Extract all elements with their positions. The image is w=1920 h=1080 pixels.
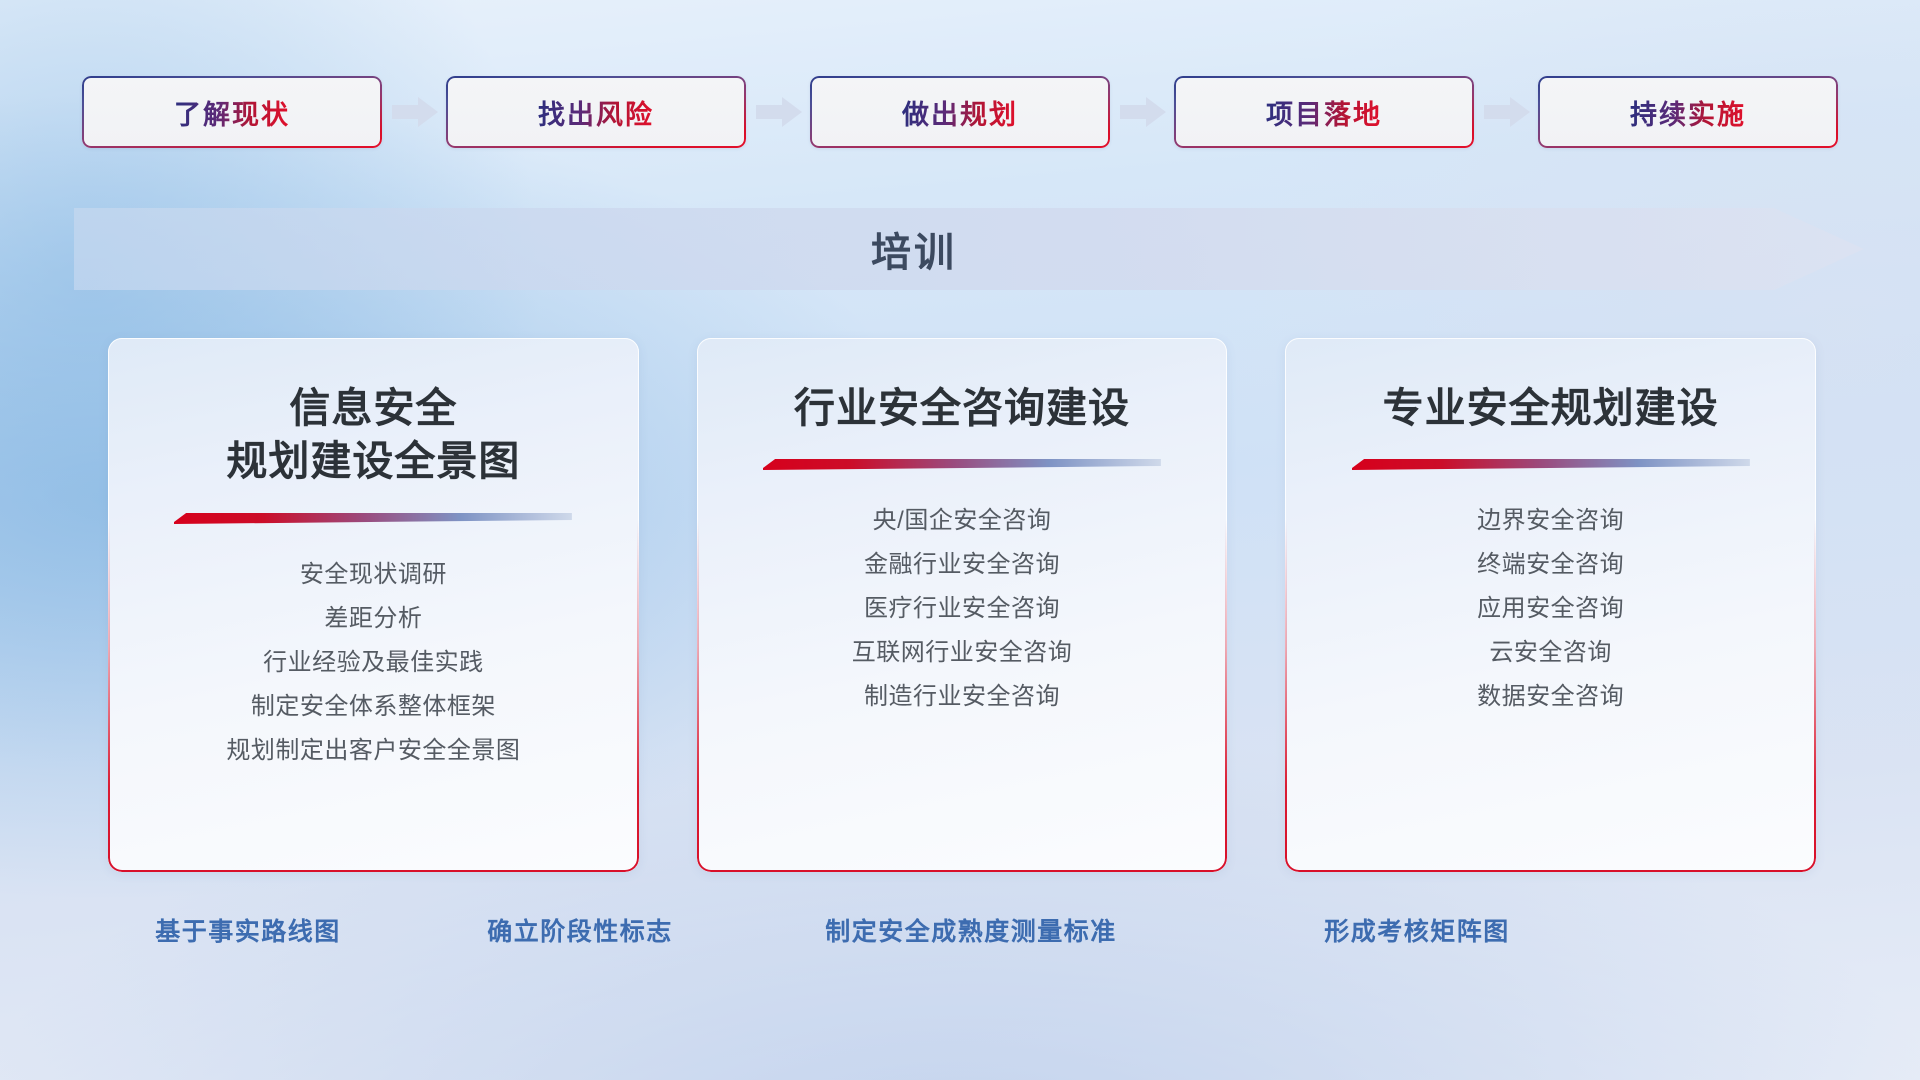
arrow-right-icon-4 bbox=[1474, 95, 1538, 129]
list-item: 安全现状调研 bbox=[142, 553, 605, 597]
step-box-5[interactable]: 持续实施 bbox=[1538, 76, 1838, 148]
card-2-title: 行业安全咨询建设 bbox=[794, 382, 1130, 435]
card-1-title: 信息安全 规划建设全景图 bbox=[226, 382, 520, 489]
card-2[interactable]: 行业安全咨询建设 bbox=[697, 338, 1228, 872]
slide-canvas: 了解现状 找出风险 做出规划 项目落地 bbox=[0, 0, 1920, 1080]
list-item: 云安全咨询 bbox=[1319, 631, 1782, 675]
card-1-list: 安全现状调研 差距分析 行业经验及最佳实践 制定安全体系整体框架 规划制定出客户… bbox=[142, 553, 605, 773]
step-label-4: 项目落地 bbox=[1266, 93, 1382, 132]
banner-title: 培训 bbox=[74, 208, 1864, 290]
gradient-divider-icon-3 bbox=[1352, 457, 1750, 471]
list-item: 央/国企安全咨询 bbox=[731, 499, 1194, 543]
list-item: 应用安全咨询 bbox=[1319, 587, 1782, 631]
step-box-1[interactable]: 了解现状 bbox=[82, 76, 382, 148]
card-3-list: 边界安全咨询 终端安全咨询 应用安全咨询 云安全咨询 数据安全咨询 bbox=[1319, 499, 1782, 719]
gradient-divider-icon-1 bbox=[174, 511, 572, 525]
bottom-label-2: 确立阶段性标志 bbox=[487, 912, 673, 948]
list-item: 终端安全咨询 bbox=[1319, 543, 1782, 587]
card-1[interactable]: 信息安全 规划建设全景图 bbox=[108, 338, 639, 872]
step-box-3[interactable]: 做出规划 bbox=[810, 76, 1110, 148]
card-3[interactable]: 专业安全规划建设 bbox=[1285, 338, 1816, 872]
bottom-label-3: 制定安全成熟度测量标准 bbox=[825, 912, 1117, 948]
card-3-title: 专业安全规划建设 bbox=[1383, 382, 1719, 435]
bottom-label-row: 基于事实路线图 确立阶段性标志 制定安全成熟度测量标准 形成考核矩阵图 bbox=[0, 912, 1920, 956]
training-banner: 培训 bbox=[74, 208, 1864, 290]
list-item: 金融行业安全咨询 bbox=[731, 543, 1194, 587]
list-item: 制定安全体系整体框架 bbox=[142, 685, 605, 729]
list-item: 数据安全咨询 bbox=[1319, 675, 1782, 719]
list-item: 规划制定出客户安全全景图 bbox=[142, 729, 605, 773]
step-flow: 了解现状 找出风险 做出规划 项目落地 bbox=[0, 76, 1920, 148]
step-label-3: 做出规划 bbox=[902, 93, 1018, 132]
step-label-1: 了解现状 bbox=[174, 93, 290, 132]
list-item: 互联网行业安全咨询 bbox=[731, 631, 1194, 675]
step-label-2: 找出风险 bbox=[538, 93, 654, 132]
list-item: 行业经验及最佳实践 bbox=[142, 641, 605, 685]
list-item: 边界安全咨询 bbox=[1319, 499, 1782, 543]
card-2-list: 央/国企安全咨询 金融行业安全咨询 医疗行业安全咨询 互联网行业安全咨询 制造行… bbox=[731, 499, 1194, 719]
arrow-right-icon-3 bbox=[1110, 95, 1174, 129]
bottom-label-1: 基于事实路线图 bbox=[155, 912, 341, 948]
list-item: 差距分析 bbox=[142, 597, 605, 641]
arrow-right-icon-1 bbox=[382, 95, 446, 129]
list-item: 制造行业安全咨询 bbox=[731, 675, 1194, 719]
list-item: 医疗行业安全咨询 bbox=[731, 587, 1194, 631]
step-box-4[interactable]: 项目落地 bbox=[1174, 76, 1474, 148]
bottom-label-4: 形成考核矩阵图 bbox=[1324, 912, 1510, 948]
step-label-5: 持续实施 bbox=[1630, 93, 1746, 132]
card-group: 信息安全 规划建设全景图 bbox=[108, 338, 1816, 872]
arrow-right-icon-2 bbox=[746, 95, 810, 129]
step-box-2[interactable]: 找出风险 bbox=[446, 76, 746, 148]
gradient-divider-icon-2 bbox=[763, 457, 1161, 471]
